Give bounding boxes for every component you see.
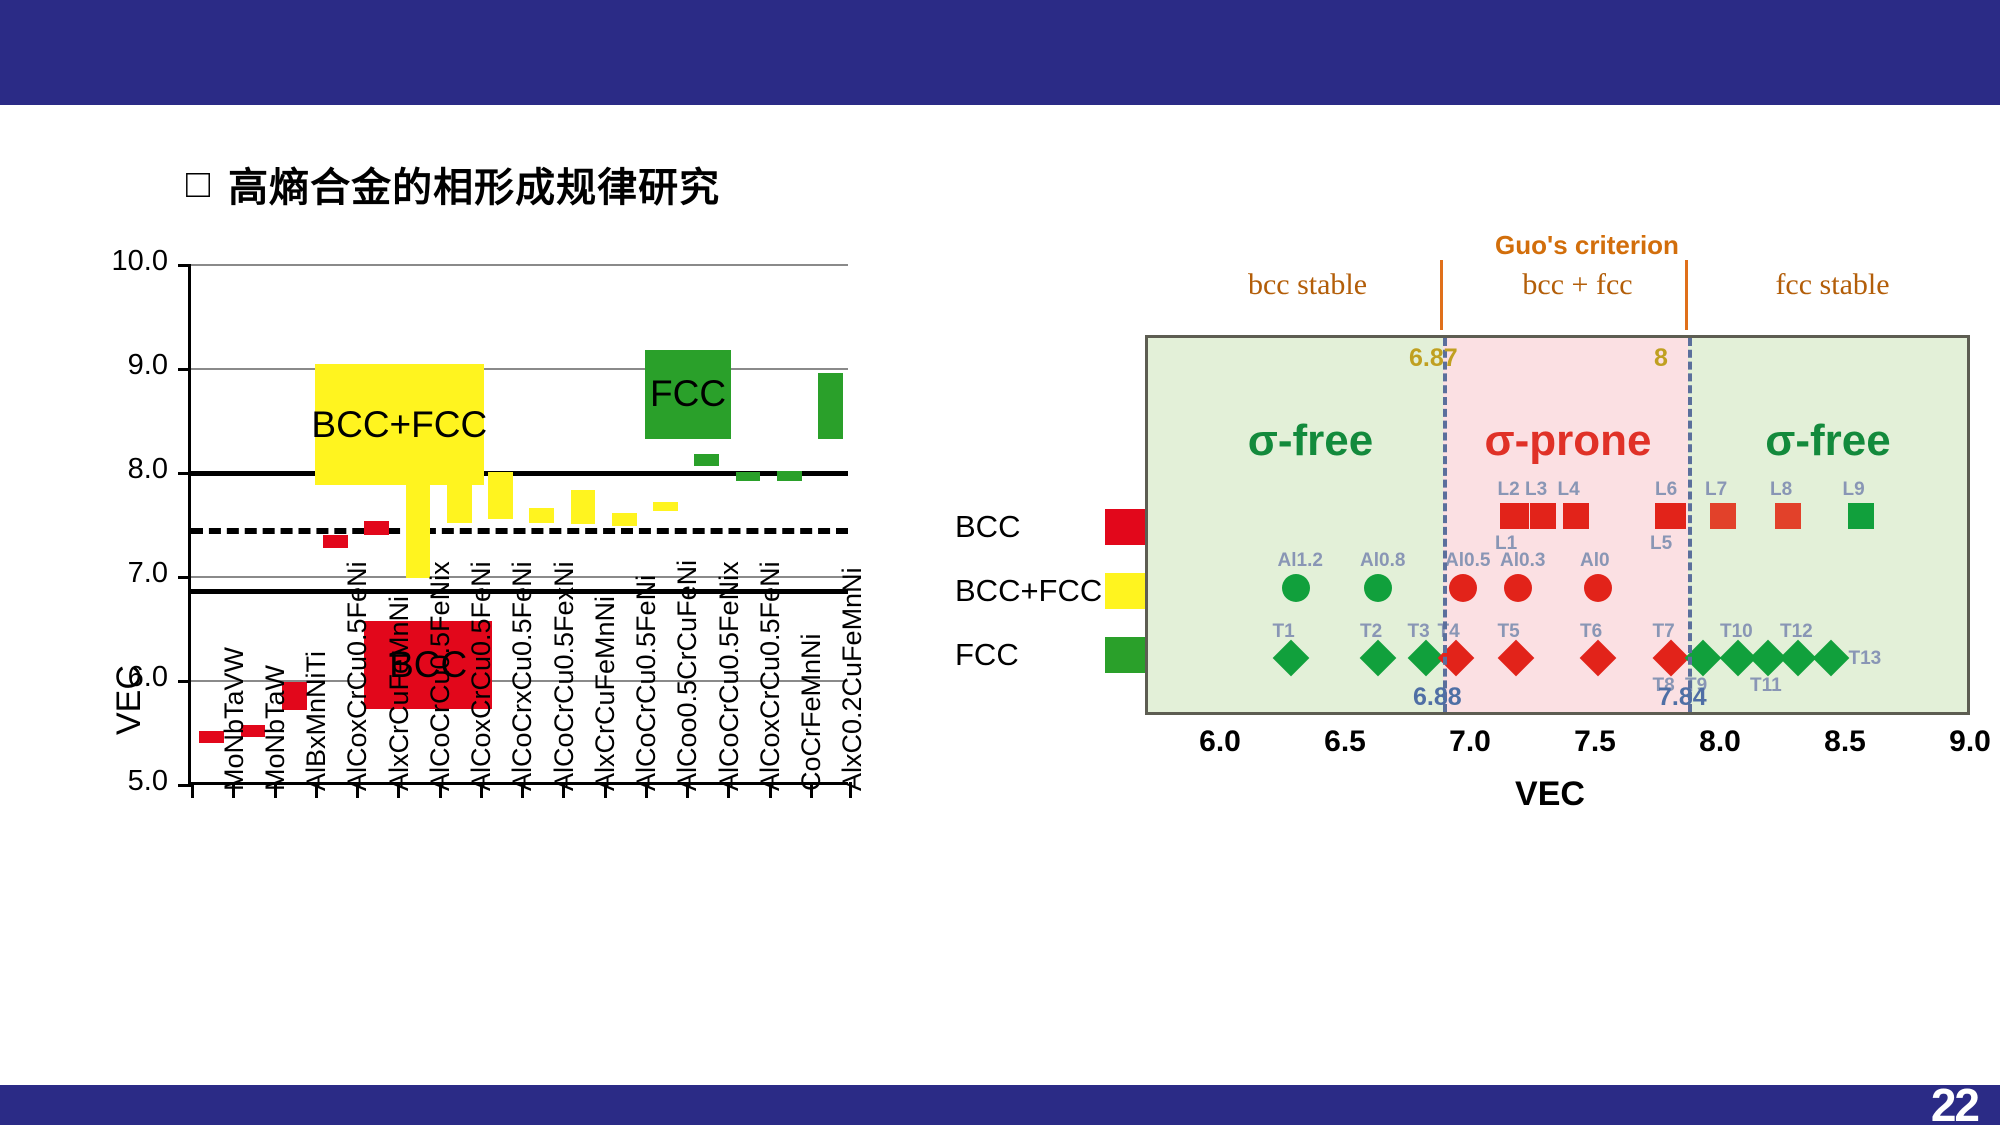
scatter-point-label: L3 [1525,479,1547,501]
scatter-point-label: T3 [1408,621,1430,643]
region-label: σ-free [1223,416,1399,466]
page-number: 22 [1931,1078,1978,1132]
x-axis-tick-label: AlCoCrCu0.5FexNi [549,561,580,791]
zone-title: bcc stable [1198,268,1418,302]
criterion-tick-line [1685,260,1688,330]
x-axis-tick-label: MoNbTaVW [219,647,250,791]
region-boundary-line [1443,338,1447,712]
scatter-point-label: Al0.5 [1445,550,1490,572]
scatter-marker [1848,503,1874,529]
right-x-tick-label: 7.0 [1449,725,1491,759]
y-axis-tick-label: 6.0 [68,661,168,694]
y-tick-mark [178,472,191,475]
scatter-marker [1660,503,1686,529]
y-tick-mark [178,368,191,371]
x-tick-mark [191,782,194,798]
bar [488,472,513,519]
guo-criterion-title: Guo's criterion [1457,230,1717,261]
boundary-value-bottom: 7.84 [1658,683,1707,712]
x-axis-tick-label: AlCoxCrCu0.5FeNi [342,561,373,791]
phase-region-box: BCC+FCC [315,364,484,486]
y-axis-tick-label: 10.0 [68,245,168,278]
guo-panel: L1L2L3L4L5L6L7L8L9Al1.2Al0.8Al0.5Al0.3Al… [1145,335,1970,715]
scatter-marker [1530,503,1556,529]
right-x-tick-label: 6.0 [1199,725,1241,759]
right-guo-criterion-figure: Guo's criterion bcc stablebcc + fccfcc s… [1115,230,1985,800]
page-title: □ 高熵合金的相形成规律研究 [186,155,720,213]
scatter-point-label: L7 [1705,479,1727,501]
scatter-point-label: T6 [1580,621,1602,643]
x-axis-tick-label: AlCoCrCu0.5FeNix [425,561,456,791]
heading-text: 高熵合金的相形成规律研究 [228,155,720,213]
scatter-marker [1449,574,1477,602]
x-axis-tick-label: AlCoxCrCu0.5FeNi [466,561,497,791]
scatter-point-label: L9 [1843,479,1865,501]
scatter-marker [1812,640,1849,677]
scatter-point-label: T11 [1750,675,1782,697]
y-axis-tick-label: 5.0 [68,765,168,798]
scatter-point-label: Al0 [1580,550,1610,572]
gridline [191,264,848,266]
scatter-point-label: T4 [1438,621,1460,643]
scatter-marker [1503,503,1529,529]
bar [653,502,678,511]
scatter-point-label: T1 [1273,621,1295,643]
right-x-tick-label: 7.5 [1574,725,1616,759]
x-axis-tick-label: AlxC0.2CuFeMnNi [837,567,868,791]
bar [818,373,843,439]
scatter-marker [1780,640,1817,677]
scatter-marker [1364,574,1392,602]
region-boundary-line [1688,338,1692,712]
scatter-point-label: L6 [1655,479,1677,501]
y-tick-mark [178,576,191,579]
region-label: σ-prone [1480,416,1656,466]
right-x-tick-label: 8.5 [1824,725,1866,759]
legend-label: FCC [955,637,1105,673]
zone-title: fcc stable [1723,268,1943,302]
x-axis-tick-label: MoNbTaW [260,665,291,791]
x-axis-tick-label: AlCoxCrCu0.5FeNi [755,561,786,791]
scatter-point-label: L8 [1770,479,1792,501]
scatter-point-label: Al0.3 [1500,550,1545,572]
scatter-point-label: T13 [1849,648,1882,670]
gridline [191,368,848,370]
scatter-point-label: T12 [1780,621,1813,643]
scatter-point-label: Al0.8 [1360,550,1405,572]
scatter-marker [1360,640,1397,677]
x-axis-tick-label: AlCoCrCu0.5FeNi [631,575,662,791]
scatter-marker [1775,503,1801,529]
bar [694,454,719,465]
y-axis-tick-label: 9.0 [68,349,168,382]
slide-bottom-band [0,1085,2000,1125]
bar [529,508,554,523]
right-x-axis-title: VEC [1115,775,1985,814]
bar [571,490,596,524]
y-tick-mark [178,784,191,787]
right-x-tick-label: 9.0 [1949,725,1991,759]
scatter-marker [1504,574,1532,602]
scatter-point-label: L5 [1650,533,1672,555]
bullet-square-icon: □ [186,164,210,204]
x-axis-tick-label: AlxCrCuFeMnNi [590,596,621,791]
bar [736,472,761,481]
x-axis-tick-label: AlBxMnNiTi [301,651,332,791]
y-tick-mark [178,264,191,267]
scatter-marker [1282,574,1310,602]
y-axis-tick-label: 7.0 [68,557,168,590]
bar [364,521,389,536]
bar [612,513,637,527]
slide-top-band [0,0,2000,105]
scatter-marker [1710,503,1736,529]
region-label: σ-free [1740,416,1916,466]
scatter-marker [1563,503,1589,529]
x-axis-tick-label: AlCoo0.5CrCuFeNi [672,560,703,791]
bar [323,535,348,547]
legend-label: BCC+FCC [955,573,1105,609]
left-bar-chart: VEC 5.06.07.08.09.010.0 BCC+FCCFCCBCC Mo… [60,255,880,995]
bar [777,471,802,481]
right-x-tick-label: 6.5 [1324,725,1366,759]
scatter-point-label: Al1.2 [1278,550,1323,572]
zone-title: bcc + fcc [1468,268,1688,302]
reference-line [191,528,848,534]
scatter-marker [1272,640,1309,677]
x-axis-tick-label: AlCoCrxCu0.5FeNi [507,561,538,791]
legend-label: BCC [955,509,1105,545]
scatter-point-label: T2 [1360,621,1382,643]
scatter-point-label: L2 [1498,479,1520,501]
boundary-value-bottom: 6.88 [1413,683,1462,712]
x-axis-tick-label: AlxCrCuFeMnNi [384,596,415,791]
x-axis-tick-label: CoCrFeMnNi [796,633,827,791]
y-tick-mark [178,680,191,683]
criterion-tick-line [1440,260,1443,330]
scatter-point-label: T5 [1498,621,1520,643]
right-x-tick-label: 8.0 [1699,725,1741,759]
boundary-value-top: 8 [1654,344,1668,373]
y-axis-tick-label: 8.0 [68,453,168,486]
scatter-point-label: T10 [1720,621,1753,643]
phase-region-box: FCC [645,350,732,438]
boundary-value-top: 6.87 [1409,344,1458,373]
x-axis-tick-label: AlCoCrCu0.5FeNix [714,561,745,791]
scatter-marker [1584,574,1612,602]
scatter-point-label: L4 [1558,479,1580,501]
